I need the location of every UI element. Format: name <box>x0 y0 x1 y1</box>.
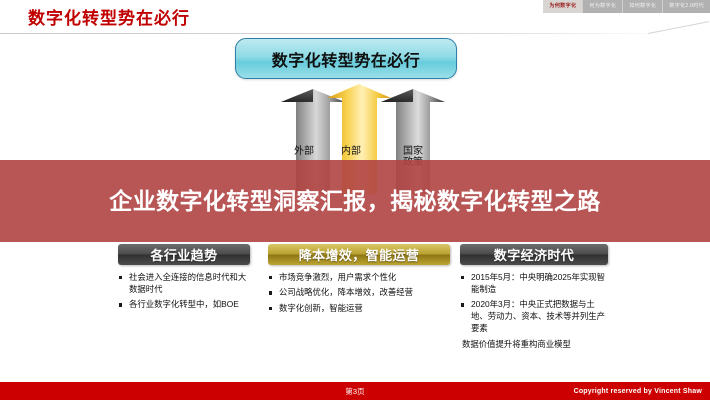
overlay-banner: 企业数字化转型洞察汇报，揭秘数字化转型之路 <box>0 160 710 242</box>
panel-bullets-0: 社会进入全连接的信息时代和大数据时代 各行业数字化转型中，如BOE <box>118 272 250 311</box>
list-item: 数字化创新，智能运营 <box>268 303 450 315</box>
nav-tab-3[interactable]: 数字化2.0时代 <box>663 0 710 13</box>
footer-bar: 第3页 Copyright reserved by Vincent Shaw <box>0 382 710 400</box>
copyright-notice: Copyright reserved by Vincent Shaw <box>574 382 702 400</box>
panel-digital-economy: 数字经济时代 2015年5月：中央明确2025年实现智能制造 2020年3月：中… <box>460 244 608 354</box>
panel-cost-efficiency: 降本增效，智能运营 市场竞争激烈，用户需求个性化 公司战略优化，降本增效，改善经… <box>268 244 450 318</box>
arrow-label-internal: 内部 <box>331 146 371 157</box>
nav-tab-1[interactable]: 何为数字化 <box>583 0 623 13</box>
title-divider-angled <box>648 21 709 34</box>
overlay-title: 企业数字化转型洞察汇报，揭秘数字化转型之路 <box>45 186 665 216</box>
nav-tab-2[interactable]: 如何数字化 <box>623 0 663 13</box>
panel-heading-0: 各行业趋势 <box>118 244 250 265</box>
panel-industry-trends: 各行业趋势 社会进入全连接的信息时代和大数据时代 各行业数字化转型中，如BOE <box>118 244 250 315</box>
panel-bullets-2: 2015年5月：中央明确2025年实现智能制造 2020年3月：中央正式把数据与… <box>460 272 608 351</box>
panel-bullets-1: 市场竞争激烈，用户需求个性化 公司战略优化，降本增效，改善经营 数字化创新，智能… <box>268 272 450 315</box>
panel-group: 各行业趋势 社会进入全连接的信息时代和大数据时代 各行业数字化转型中，如BOE … <box>0 244 710 378</box>
slide-canvas: 为何数字化 何为数字化 如何数字化 数字化2.0时代 数字化转型势在必行 数字化… <box>0 0 710 400</box>
concept-box: 数字化转型势在必行 <box>235 38 457 79</box>
list-item: 2020年3月：中央正式把数据与土地、劳动力、资本、技术等并列生产要素 <box>460 299 608 335</box>
nav-tab-0[interactable]: 为何数字化 <box>543 0 583 13</box>
list-item: 2015年5月：中央明确2025年实现智能制造 <box>460 272 608 296</box>
panel-heading-1: 降本增效，智能运营 <box>268 244 450 265</box>
section-nav: 为何数字化 何为数字化 如何数字化 数字化2.0时代 <box>543 0 710 13</box>
list-item: 数据价值提升将重构商业模型 <box>460 339 608 351</box>
arrow-label-external: 外部 <box>284 146 324 157</box>
list-item: 公司战略优化，降本增效，改善经营 <box>268 287 450 299</box>
list-item: 市场竞争激烈，用户需求个性化 <box>268 272 450 284</box>
list-item: 各行业数字化转型中，如BOE <box>118 299 250 311</box>
concept-box-label: 数字化转型势在必行 <box>272 47 421 71</box>
list-item: 社会进入全连接的信息时代和大数据时代 <box>118 272 250 296</box>
slide-title: 数字化转型势在必行 <box>28 4 190 29</box>
title-divider <box>0 33 672 34</box>
panel-heading-2: 数字经济时代 <box>460 244 608 265</box>
